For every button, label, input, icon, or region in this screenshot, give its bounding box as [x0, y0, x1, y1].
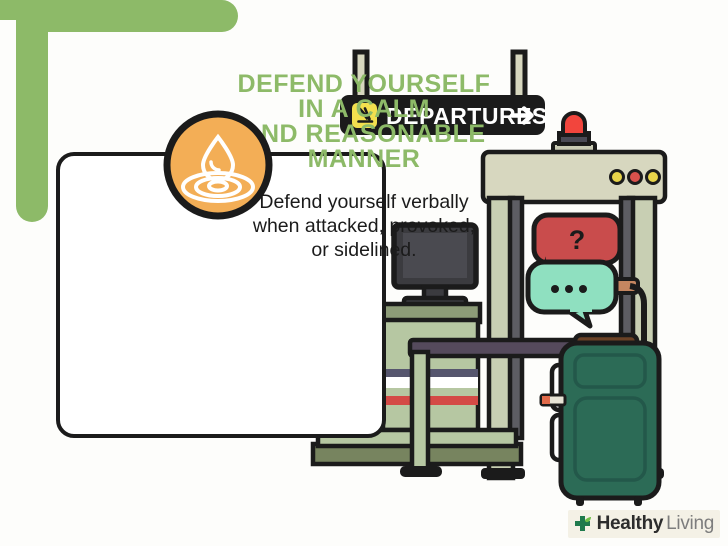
infographic-canvas: DEPARTURES — [0, 0, 728, 546]
green-cross-leaf-icon — [572, 513, 594, 535]
brand-name-secondary: Living — [666, 513, 714, 535]
brand-logo: Healthy Living — [568, 510, 720, 538]
rolling-suitcase — [541, 335, 659, 506]
brand-name-primary: Healthy — [597, 513, 664, 535]
page-title: DEFEND YOURSELF IN A CALM AND REASONABLE… — [0, 72, 728, 172]
card-body-text: Defend yourself verbally when attacked, … — [0, 190, 728, 262]
water-droplet-ripple-icon — [163, 110, 273, 220]
